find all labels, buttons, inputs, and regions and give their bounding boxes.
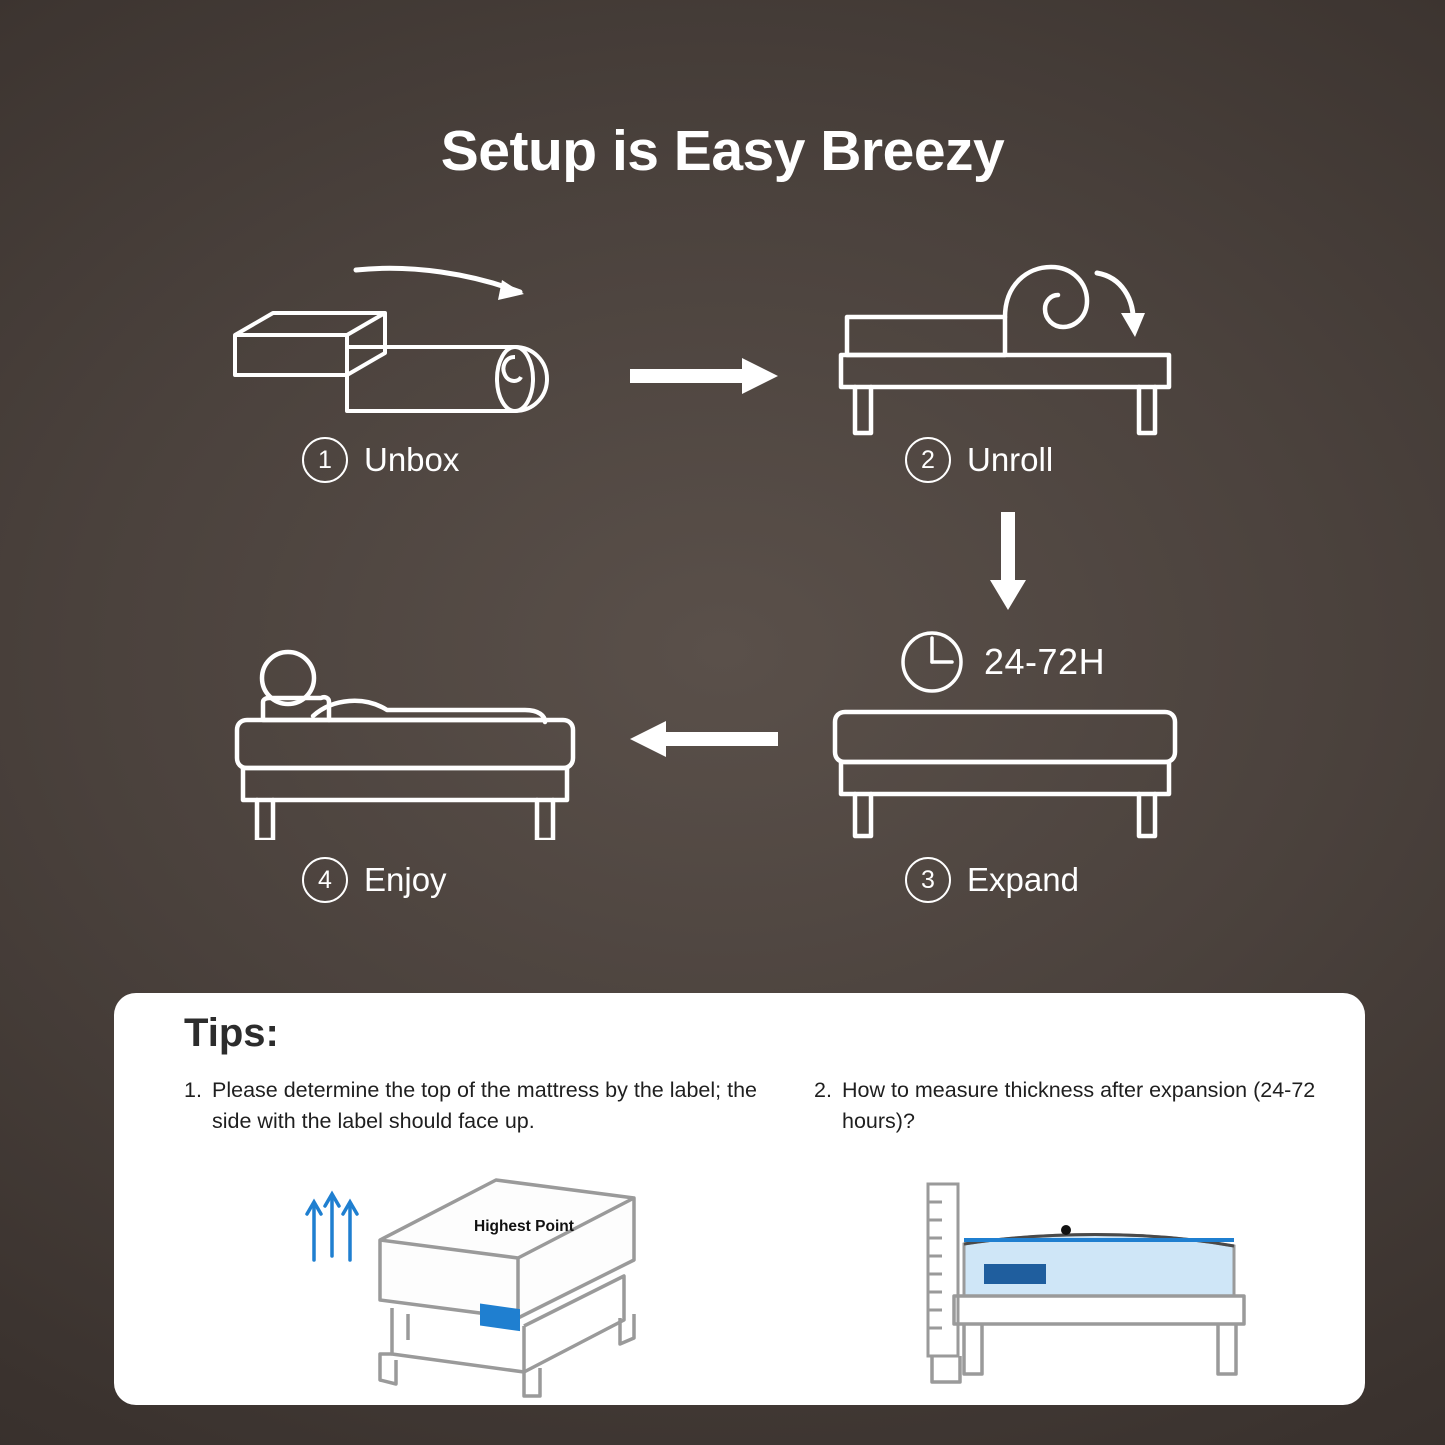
step-number-2: 2 [905, 437, 951, 483]
ruler-icon [928, 1184, 958, 1356]
tip-2-text: How to measure thickness after expansion… [814, 1075, 1374, 1137]
expansion-time-text: 24-72H [984, 641, 1105, 683]
tip-2-number: 2. [814, 1075, 832, 1106]
expansion-time-label: 24-72H [900, 630, 1105, 694]
step-text-unbox: Unbox [364, 441, 459, 479]
step-number-4: 4 [302, 857, 348, 903]
enjoy-illustration [225, 640, 585, 840]
arrow-right-icon-1 [630, 352, 780, 400]
tips-heading: Tips: [184, 1011, 279, 1056]
highest-point-label: Highest Point [474, 1218, 574, 1236]
step-text-enjoy: Enjoy [364, 861, 447, 899]
tip-item-2: 2. How to measure thickness after expans… [814, 1075, 1374, 1137]
clock-icon [900, 630, 964, 694]
step-label-unroll: 2 Unroll [905, 437, 1053, 483]
step-number-1: 1 [302, 437, 348, 483]
airflow-arrows-icon [307, 1194, 357, 1260]
tips-card: Tips: 1. Please determine the top of the… [114, 993, 1365, 1405]
tip-item-1: 1. Please determine the top of the mattr… [184, 1075, 784, 1137]
step-label-enjoy: 4 Enjoy [302, 857, 447, 903]
unbox-illustration [215, 295, 595, 435]
step-label-unbox: 1 Unbox [302, 437, 459, 483]
page-title: Setup is Easy Breezy [0, 118, 1445, 184]
expand-illustration [825, 700, 1185, 840]
step-number-3: 3 [905, 857, 951, 903]
tip-1-figure [284, 1168, 704, 1403]
tip-2-figure [814, 1168, 1264, 1403]
step-label-expand: 3 Expand [905, 857, 1079, 903]
unroll-illustration [825, 255, 1185, 440]
arrow-left-icon [628, 715, 778, 763]
tip-1-number: 1. [184, 1075, 202, 1106]
mattress-label-patch-2 [984, 1264, 1046, 1284]
step-text-unroll: Unroll [967, 441, 1053, 479]
setup-instructions-graphic: Setup is Easy Breezy 1 Unbox [0, 0, 1445, 1445]
tip-1-text: Please determine the top of the mattress… [184, 1075, 784, 1137]
arrow-down-icon [984, 512, 1032, 612]
highest-point-marker [1061, 1225, 1071, 1235]
step-text-expand: Expand [967, 861, 1079, 899]
